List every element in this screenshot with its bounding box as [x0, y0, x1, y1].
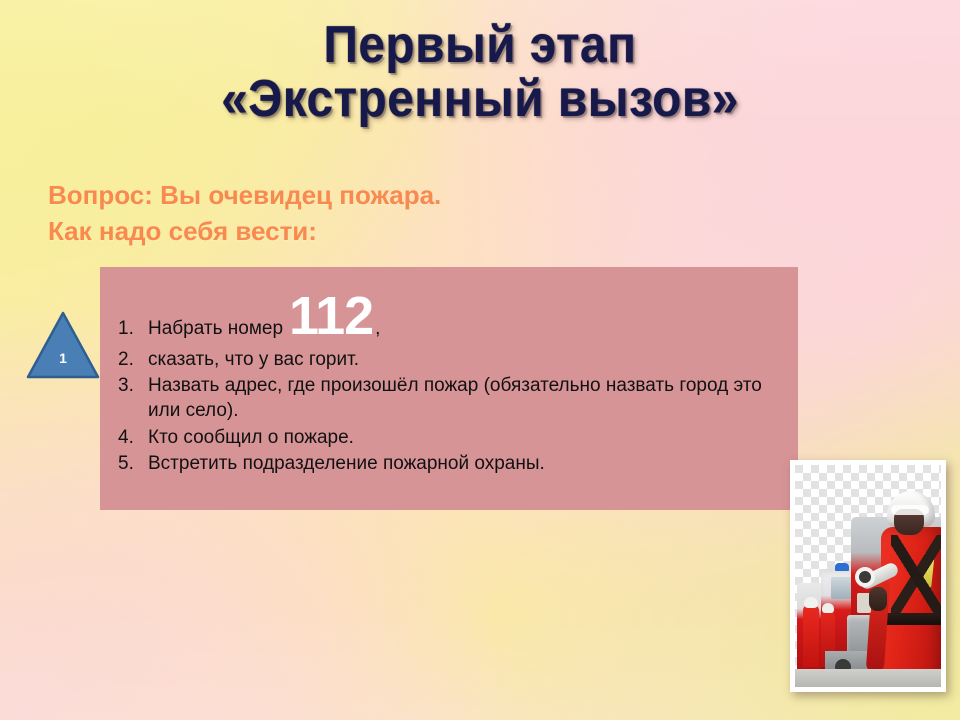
list-item-number: 2. [114, 348, 148, 373]
list-item-text: сказать, что у вас горит. [148, 348, 786, 373]
step-badge-number: 1 [25, 350, 101, 366]
list-item: 1. Набрать номер112, [114, 295, 786, 342]
firefighter-hand-icon [869, 587, 887, 611]
list-item-number: 1. [114, 317, 148, 342]
harness-straps-icon [891, 535, 941, 615]
list-item-text: Набрать номер112, [148, 295, 786, 342]
utility-belt-icon [883, 613, 941, 625]
list-item-text: Назвать адрес, где произошёл пожар (обяз… [148, 374, 786, 423]
list-item-text: Кто сообщил о пожаре. [148, 426, 786, 451]
emergency-number: 112 [283, 286, 375, 346]
helmet-visor-icon [891, 505, 929, 515]
firefighters-photo [790, 460, 946, 692]
emergency-light-icon [835, 563, 849, 571]
list-item-number: 3. [114, 374, 148, 399]
triangle-icon [25, 310, 101, 380]
instructions-list: 1. Набрать номер112, 2. сказать, что у в… [114, 295, 786, 479]
question-line-1: Вопрос: Вы очевидец пожара. [48, 178, 441, 214]
firefighter-far-a-icon [803, 605, 819, 667]
list-item-text: Встретить подразделение пожарной охраны. [148, 452, 786, 477]
step-badge: 1 [25, 310, 101, 380]
list-item: 2. сказать, что у вас горит. [114, 348, 786, 373]
question-text: Вопрос: Вы очевидец пожара. Как надо себ… [48, 178, 441, 250]
list-item: 5. Встретить подразделение пожарной охра… [114, 452, 786, 477]
list-item: 3. Назвать адрес, где произошёл пожар (о… [114, 374, 786, 423]
slide-title-line-1: Первый этап [38, 18, 921, 72]
list-item-text-after: , [375, 318, 380, 339]
presentation-slide: Первый этап «Экстренный вызов» Вопрос: В… [0, 0, 960, 720]
list-item: 4. Кто сообщил о пожаре. [114, 426, 786, 451]
slide-title: Первый этап «Экстренный вызов» [0, 18, 960, 126]
list-item-text-before: Набрать номер [148, 318, 283, 339]
ground-icon [795, 669, 941, 687]
hose-nozzle-ring-icon [855, 567, 875, 587]
firefighters-photo-image [795, 465, 941, 687]
instructions-panel: 1. Набрать номер112, 2. сказать, что у в… [100, 267, 798, 510]
question-line-2: Как надо себя вести: [48, 214, 441, 250]
list-item-number: 5. [114, 452, 148, 477]
firefighter-far-b-helmet-icon [822, 603, 834, 613]
firefighter-far-a-helmet-icon [804, 597, 818, 608]
slide-title-line-2: «Экстренный вызов» [38, 72, 921, 126]
list-item-number: 4. [114, 426, 148, 451]
